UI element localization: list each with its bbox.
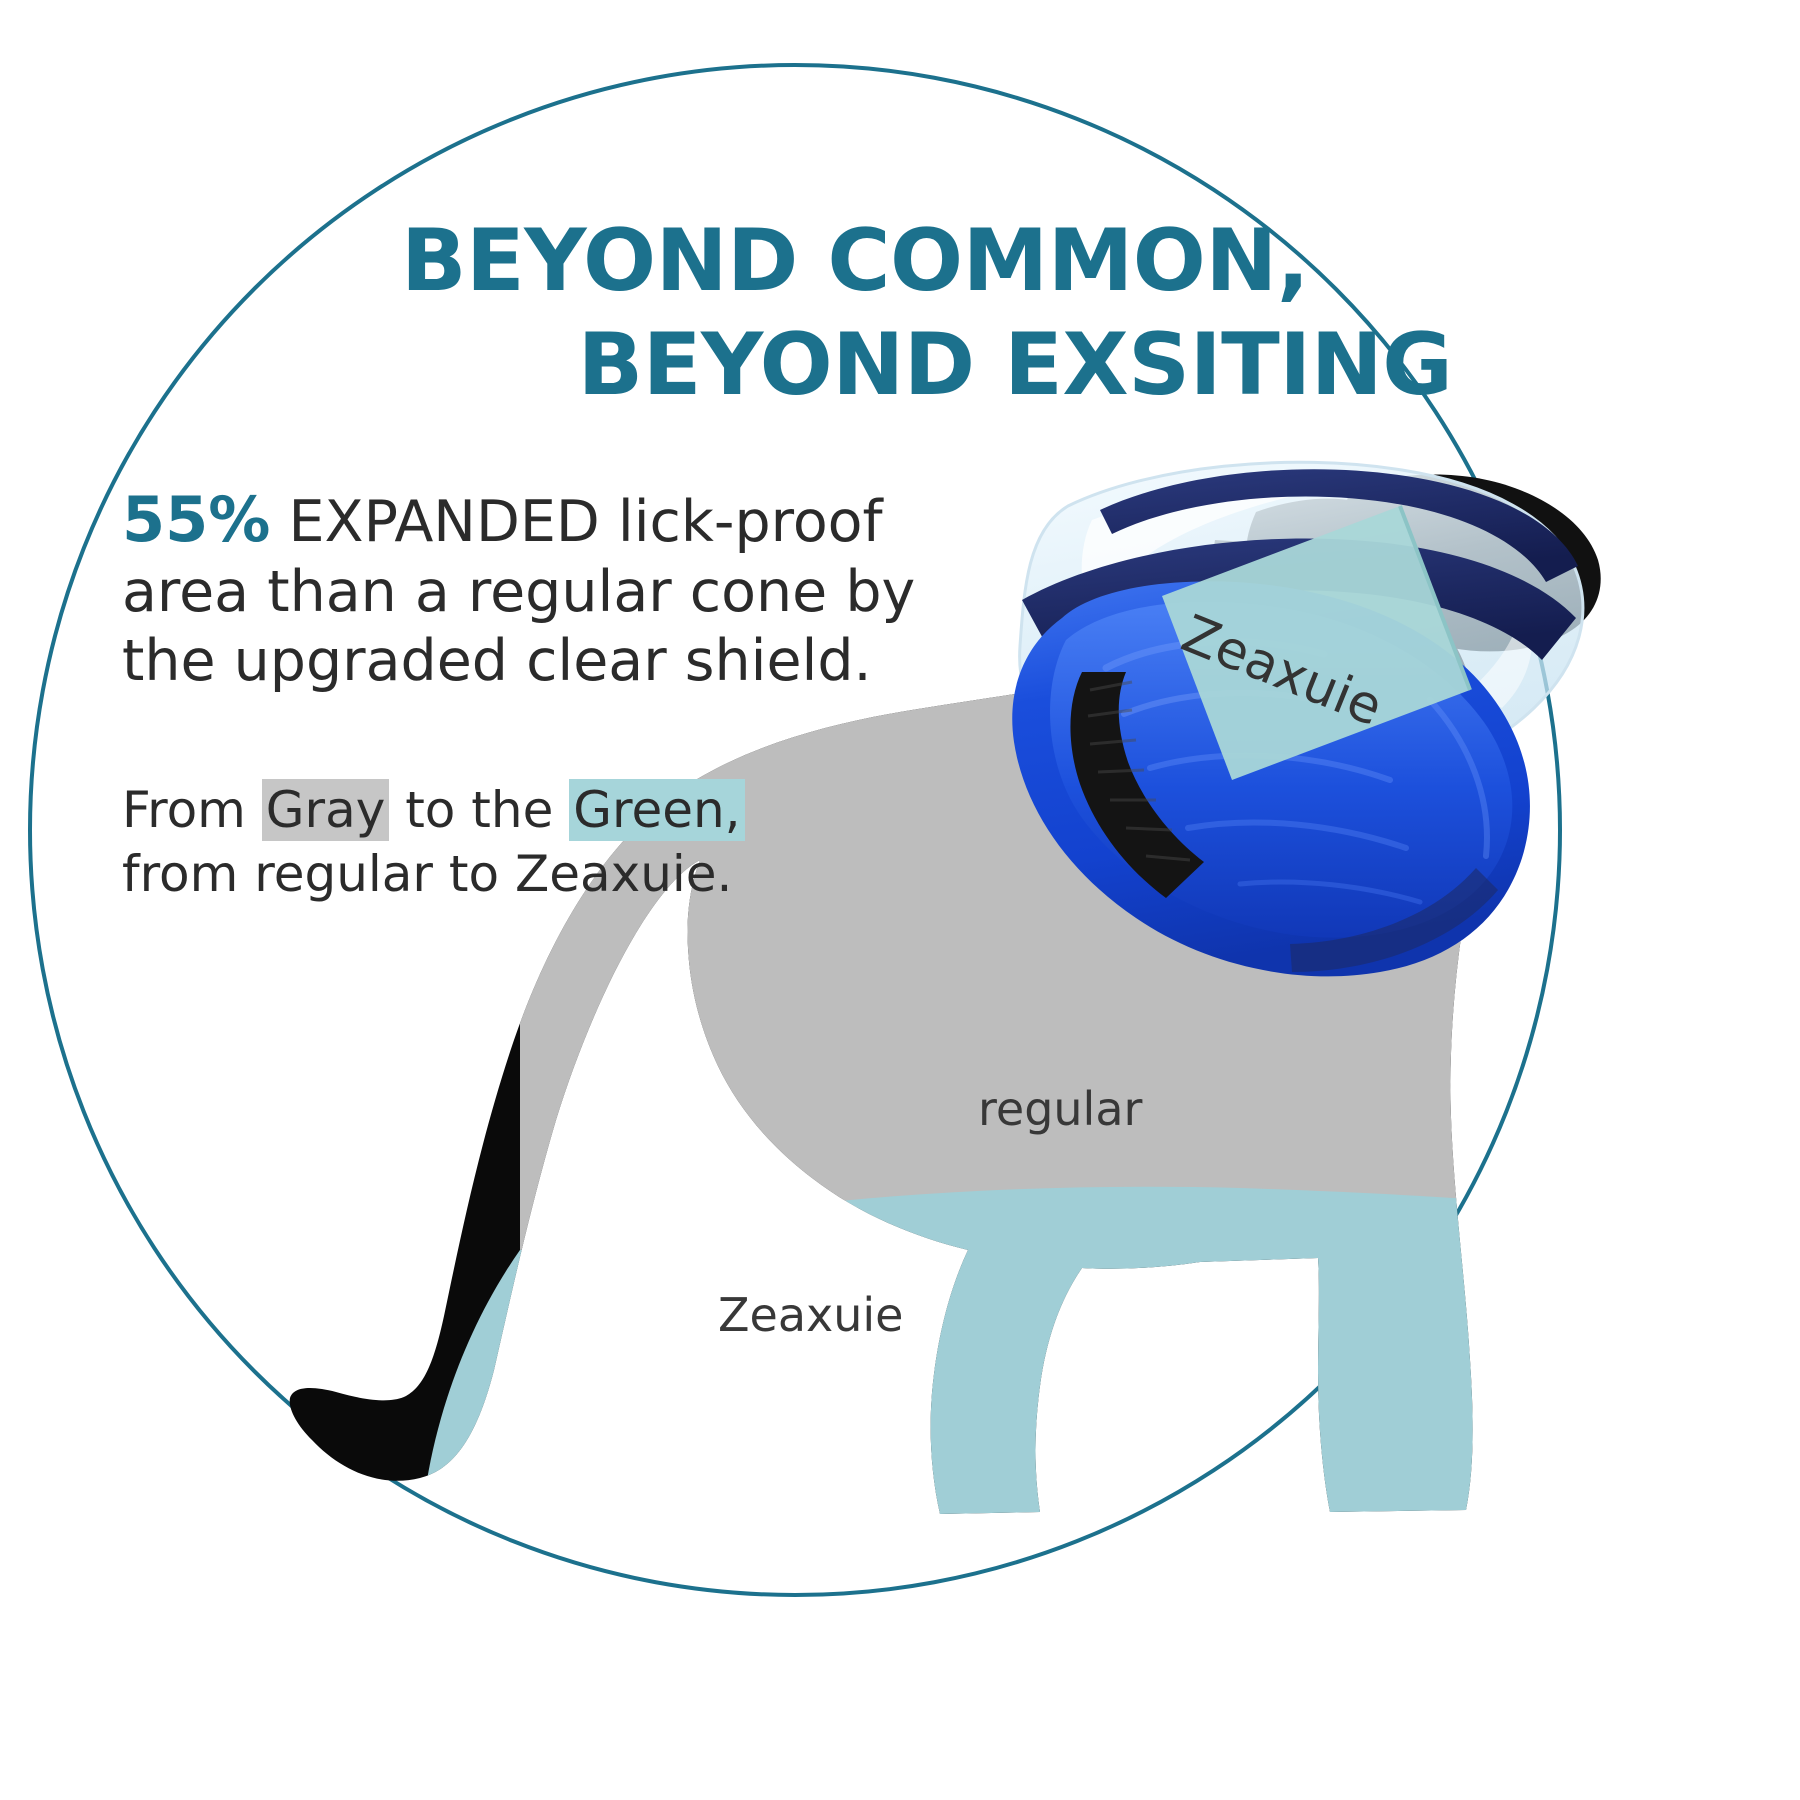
infographic-canvas: Zeaxuie BEYOND COMMON, BEYOND EXSITING 5… — [0, 0, 1800, 1800]
product-cone-collar — [0, 0, 1800, 1800]
